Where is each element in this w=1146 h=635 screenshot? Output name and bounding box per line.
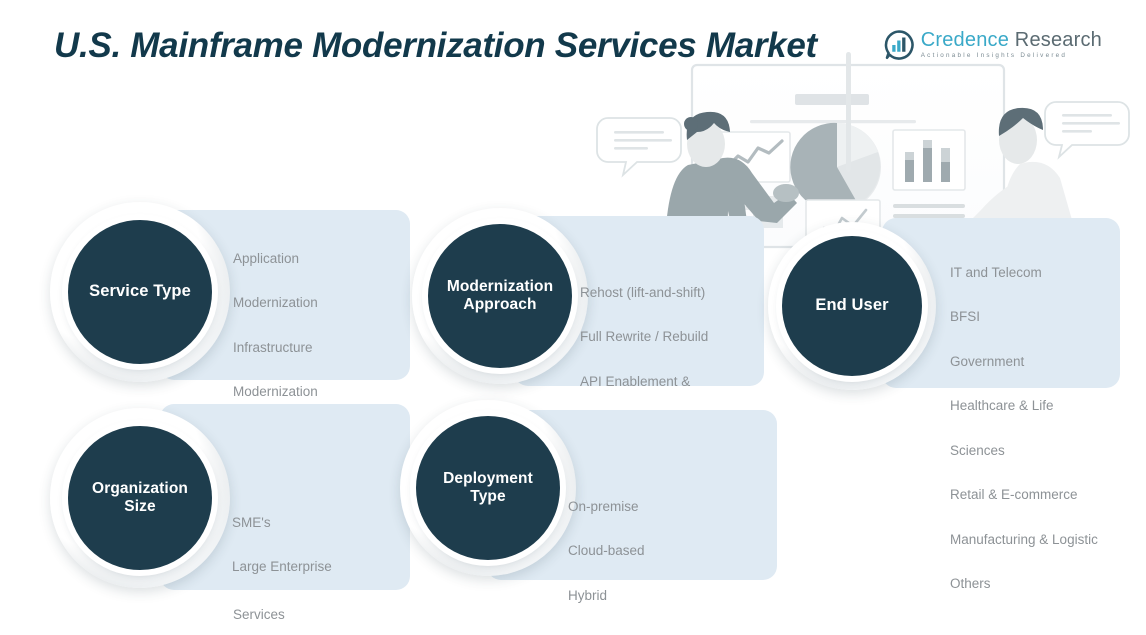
- speech-bubble-left-icon: [597, 118, 681, 175]
- list-item: Services: [233, 608, 413, 623]
- logo-tagline: Actionable Insights Delivered: [921, 53, 1102, 59]
- segment-deployment-type[interactable]: Deployment Type On-premise Cloud-based H…: [392, 390, 772, 590]
- logo-wordmark: Credence Research Actionable Insights De…: [921, 30, 1102, 59]
- segment-organization-size[interactable]: Organization Size SME's Large Enterprise: [50, 390, 410, 600]
- list-item: Application: [233, 252, 413, 267]
- bubble-circle[interactable]: Modernization Approach: [428, 224, 572, 368]
- list-item: Infrastructure: [233, 341, 413, 356]
- list-item: On-premise: [568, 500, 758, 515]
- bubble-circle[interactable]: Service Type: [68, 220, 212, 364]
- list-item: Hybrid: [568, 589, 758, 604]
- list-item: Modernization: [233, 296, 413, 311]
- list-item: IT and Telecom: [950, 266, 1128, 281]
- list-item: SME's: [232, 516, 404, 531]
- list-item: Cloud-based: [568, 544, 758, 559]
- bubble-circle[interactable]: Organization Size: [68, 426, 212, 570]
- segment-modernization-approach[interactable]: Modernization Approach Rehost (lift-and-…: [412, 208, 764, 388]
- logo-brand-text: Credence Research: [921, 30, 1102, 50]
- segment-label: Deployment Type: [416, 470, 560, 507]
- segment-label: Service Type: [81, 282, 199, 301]
- segment-bubble[interactable]: Service Type: [50, 202, 230, 382]
- segment-row-top: Service Type Application Modernization I…: [0, 198, 1146, 398]
- infographic-canvas: U.S. Mainframe Modernization Services Ma…: [0, 0, 1146, 635]
- brand-logo[interactable]: Credence Research Actionable Insights De…: [884, 30, 1102, 60]
- segment-bubble[interactable]: Organization Size: [50, 408, 230, 588]
- list-item: API Enablement &: [580, 375, 770, 390]
- logo-brand-first: Credence: [921, 29, 1009, 51]
- segment-bubble[interactable]: End User: [768, 222, 936, 390]
- segment-bubble[interactable]: Deployment Type: [400, 400, 576, 576]
- bubble-circle[interactable]: Deployment Type: [416, 416, 560, 560]
- segment-items: On-premise Cloud-based Hybrid: [568, 470, 758, 633]
- bar-chart-speech-bubble-icon: [884, 30, 914, 60]
- segment-items: SME's Large Enterprise: [232, 486, 404, 605]
- page-title: U.S. Mainframe Modernization Services Ma…: [54, 26, 817, 66]
- segment-bubble[interactable]: Modernization Approach: [412, 208, 588, 384]
- logo-brand-second: Research: [1009, 29, 1102, 51]
- segment-service-type[interactable]: Service Type Application Modernization I…: [50, 198, 410, 388]
- list-item: Rehost (lift-and-shift): [580, 286, 770, 301]
- segment-end-user[interactable]: End User IT and Telecom BFSI Government …: [768, 208, 1120, 388]
- list-item: Full Rewrite / Rebuild: [580, 330, 770, 345]
- segment-row-bottom: Organization Size SME's Large Enterprise…: [0, 390, 1146, 610]
- speech-bubble-right-icon: [1045, 102, 1129, 157]
- segment-label: Organization Size: [68, 480, 212, 517]
- list-item: BFSI: [950, 310, 1128, 325]
- bubble-circle[interactable]: End User: [782, 236, 922, 376]
- segment-label: Modernization Approach: [428, 278, 572, 315]
- list-item: Large Enterprise: [232, 560, 404, 575]
- list-item: Government: [950, 355, 1128, 370]
- segment-label: End User: [807, 296, 896, 315]
